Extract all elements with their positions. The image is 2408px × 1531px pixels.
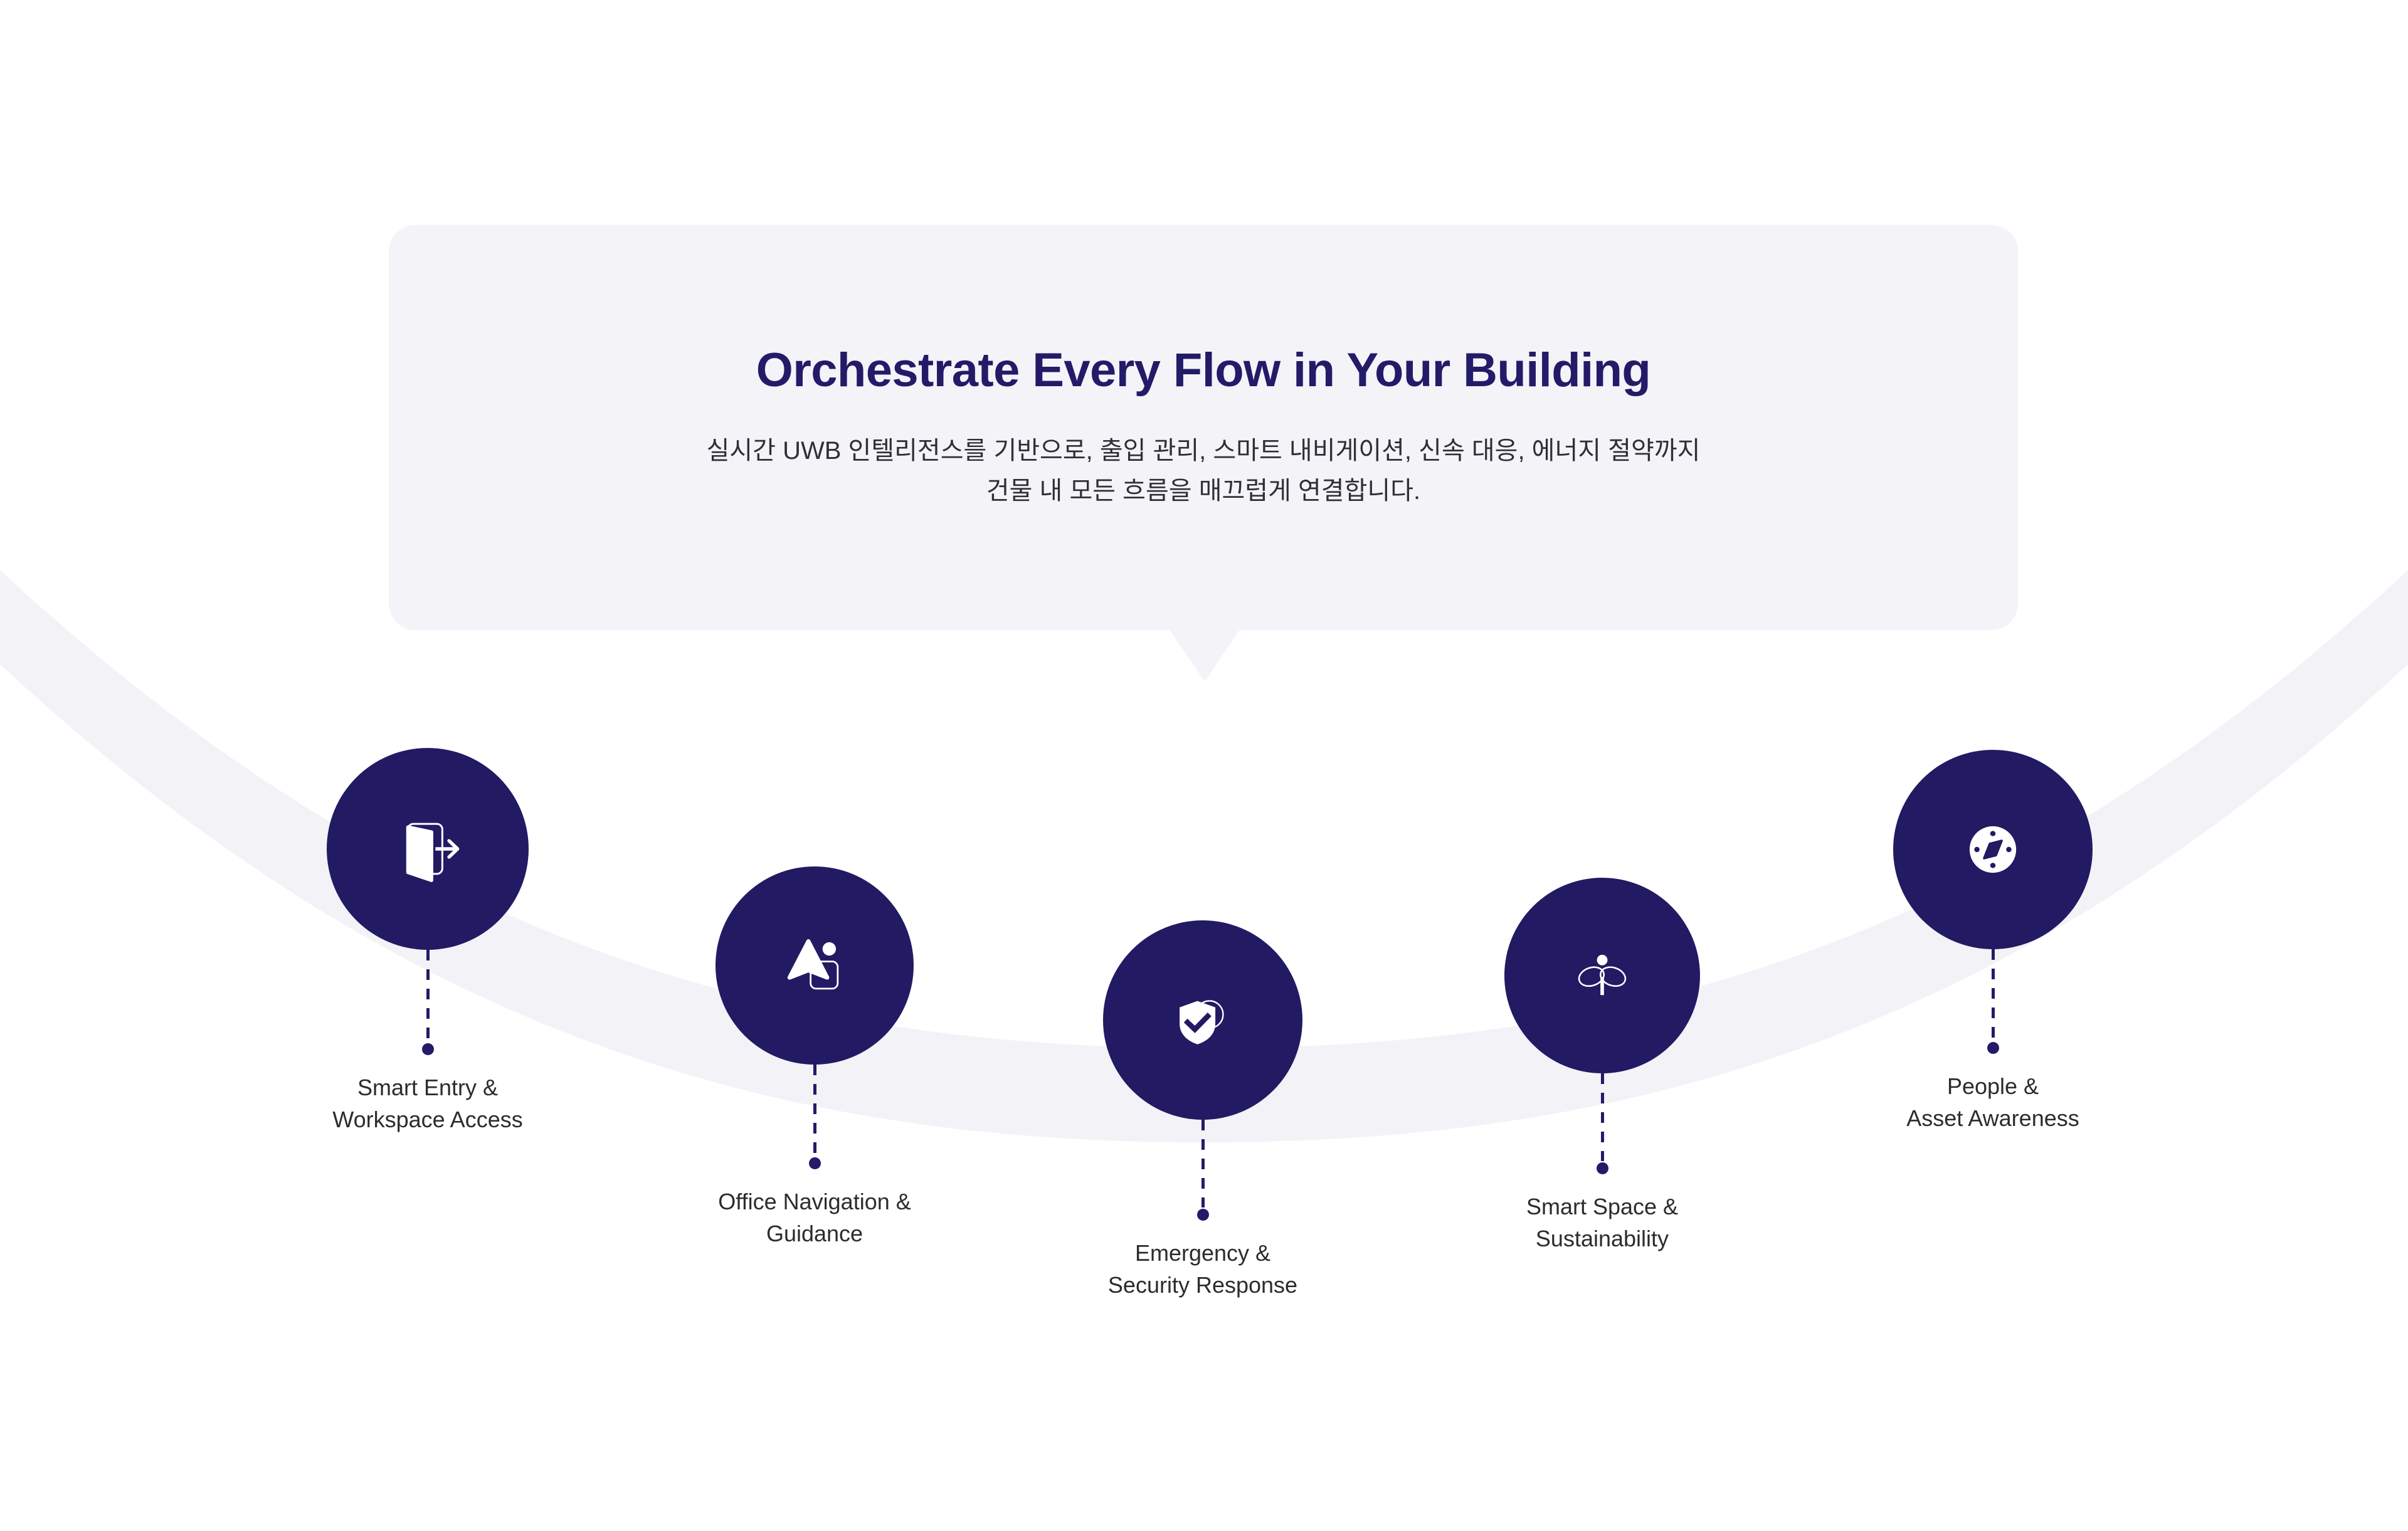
node-connector-dot <box>422 1043 434 1055</box>
node-connector-dot <box>1197 1209 1209 1221</box>
sprout-leaf-icon <box>1570 943 1635 1008</box>
node-connector-dot <box>1987 1042 1999 1054</box>
node-connector-dot <box>809 1157 821 1169</box>
node-label-line-1: People & <box>1906 1070 2079 1102</box>
navigation-arrow-icon <box>776 927 853 1004</box>
node-connector-line <box>1992 949 1995 1041</box>
node-connector-dot <box>1597 1162 1608 1174</box>
callout-card: Orchestrate Every Flow in Your Building … <box>389 225 2018 630</box>
node-label-line-2: Guidance <box>718 1218 911 1250</box>
subtitle-line-1: 실시간 UWB 인텔리전스를 기반으로, 출입 관리, 스마트 내비게이션, 신… <box>707 431 1701 471</box>
node-people-asset[interactable]: People & Asset Awareness <box>1893 750 2093 1134</box>
node-office-navigation[interactable]: Office Navigation & Guidance <box>716 866 914 1250</box>
node-label-line-2: Security Response <box>1108 1269 1297 1301</box>
compass-icon <box>1958 815 2027 884</box>
shield-check-icon <box>1168 985 1238 1055</box>
node-label-line-2: Workspace Access <box>332 1103 522 1135</box>
infographic-canvas: Orchestrate Every Flow in Your Building … <box>0 0 2408 1531</box>
node-icon-circle[interactable] <box>1893 750 2093 949</box>
node-label: Emergency & Security Response <box>1108 1237 1297 1301</box>
node-smart-space[interactable]: Smart Space & Sustainability <box>1504 878 1700 1255</box>
node-connector-line <box>426 950 430 1042</box>
page-title: Orchestrate Every Flow in Your Building <box>756 344 1651 397</box>
callout-pointer-tail <box>1169 629 1240 681</box>
node-smart-entry[interactable]: Smart Entry & Workspace Access <box>327 748 529 1135</box>
node-emergency-security[interactable]: Emergency & Security Response <box>1103 920 1302 1301</box>
subtitle-line-2: 건물 내 모든 흐름을 매끄럽게 연결합니다. <box>707 471 1701 511</box>
node-label: People & Asset Awareness <box>1906 1070 2079 1134</box>
node-icon-circle[interactable] <box>1504 878 1700 1073</box>
node-label-line-1: Smart Entry & <box>332 1071 522 1103</box>
node-label-line-1: Emergency & <box>1108 1237 1297 1269</box>
node-icon-circle[interactable] <box>327 748 529 950</box>
node-connector-line <box>813 1065 816 1156</box>
page-subtitle: 실시간 UWB 인텔리전스를 기반으로, 출입 관리, 스마트 내비게이션, 신… <box>707 431 1701 511</box>
node-label-line-1: Office Navigation & <box>718 1186 911 1218</box>
node-label-line-2: Asset Awareness <box>1906 1102 2079 1134</box>
node-label: Office Navigation & Guidance <box>718 1186 911 1250</box>
node-connector-line <box>1601 1073 1604 1161</box>
node-connector-line <box>1201 1120 1205 1207</box>
door-exit-icon <box>386 808 469 890</box>
node-icon-circle[interactable] <box>716 866 914 1065</box>
node-label-line-2: Sustainability <box>1526 1223 1678 1255</box>
node-label-line-1: Smart Space & <box>1526 1191 1678 1223</box>
node-label: Smart Space & Sustainability <box>1526 1191 1678 1255</box>
node-label: Smart Entry & Workspace Access <box>332 1071 522 1135</box>
node-icon-circle[interactable] <box>1103 920 1302 1120</box>
